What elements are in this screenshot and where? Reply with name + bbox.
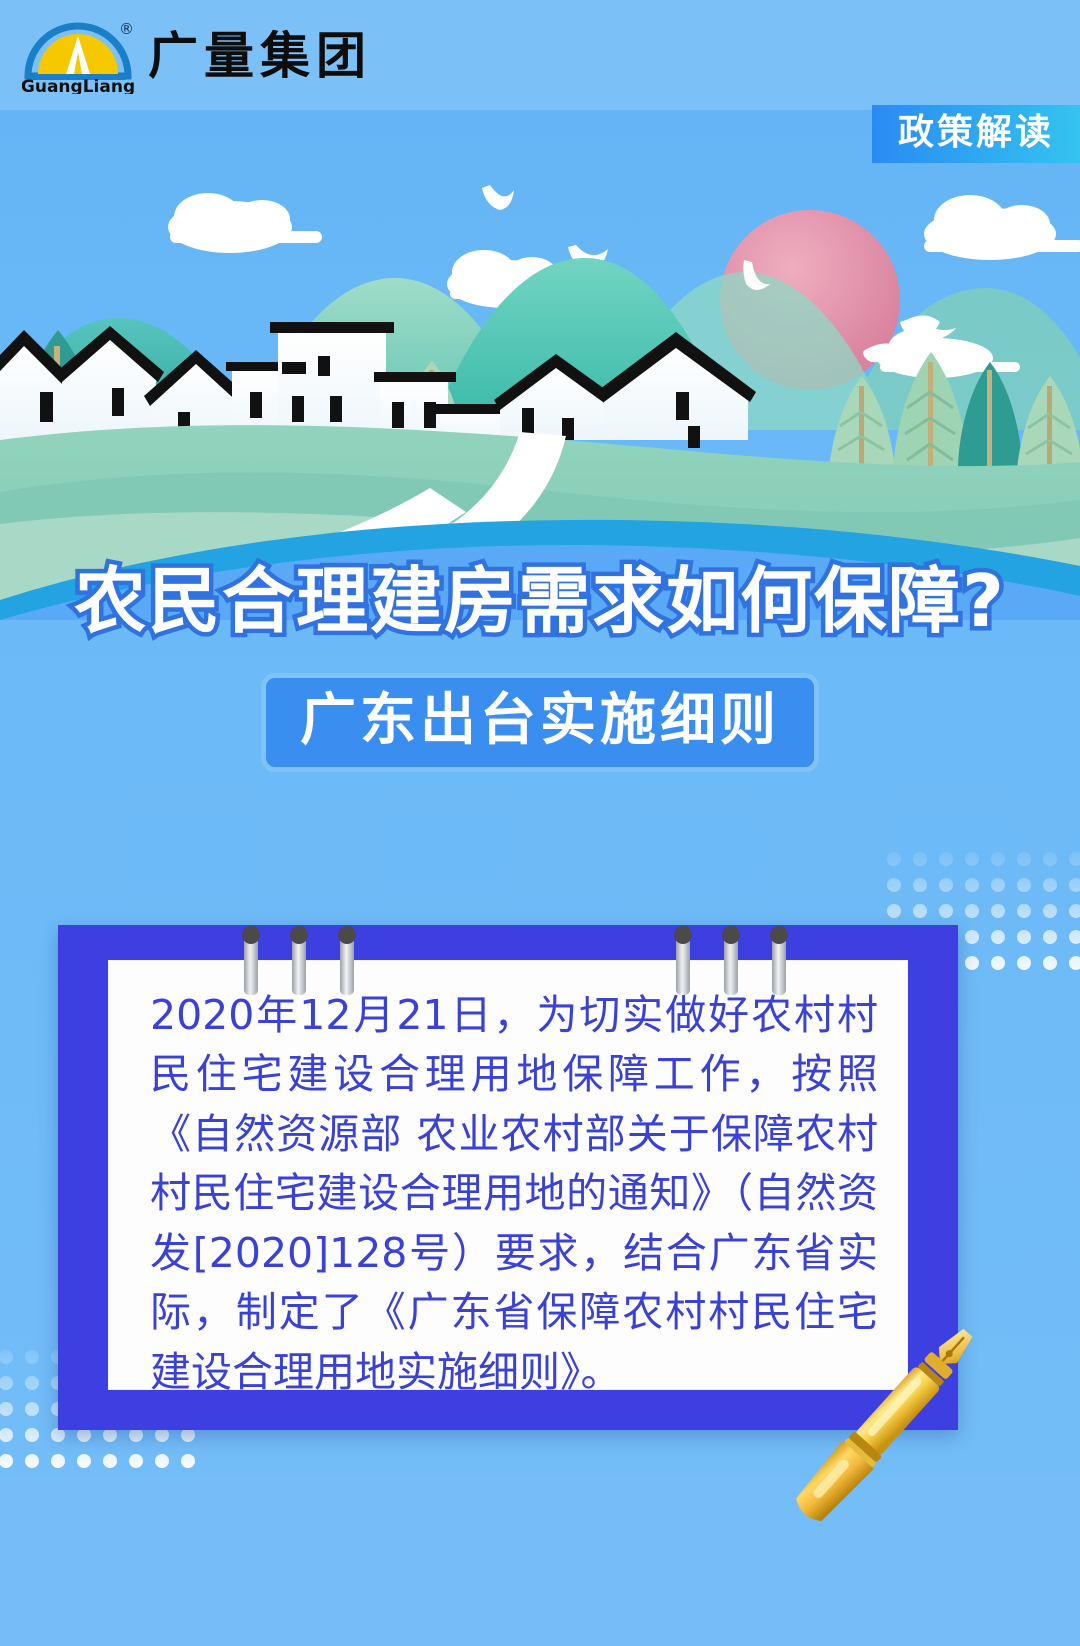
background-lower [0,1476,1080,1646]
page-title: 农民合理建房需求如何保障? [0,560,1080,643]
page-subtitle: 广东出台实施细则 [300,690,780,752]
subtitle-box: 广东出台实施细则 [261,673,819,773]
note-card-body: 2020年12月21日，为切实做好农村村民住宅建设合理用地保障工作，按照《自然资… [150,986,878,1402]
note-card: 2020年12月21日，为切实做好农村村民住宅建设合理用地保障工作，按照《自然资… [58,925,958,1430]
poster-root: ® GuangLiang 广量集团 政策解读 农民合理建房需求如何保障? 广东出… [0,0,1080,1646]
guangliang-arch-logo-icon: ® GuangLiang [22,18,134,94]
note-card-paper: 2020年12月21日，为切实做好农村村民住宅建设合理用地保障工作，按照《自然资… [108,960,908,1390]
brand-logo[interactable]: ® GuangLiang 广量集团 [22,18,372,94]
policy-interpretation-badge[interactable]: 政策解读 [872,105,1080,163]
logo-latin-text: GuangLiang [22,77,134,94]
hero-title-block: 农民合理建房需求如何保障? 广东出台实施细则 [0,560,1080,772]
svg-text:®: ® [119,20,134,38]
header-bar: ® GuangLiang 广量集团 [0,0,1080,110]
company-name: 广量集团 [148,31,372,81]
